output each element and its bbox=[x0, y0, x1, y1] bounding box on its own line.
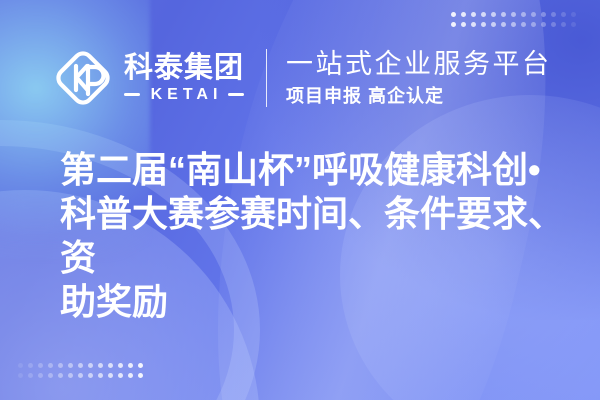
brand-name-cn: 科泰集团 bbox=[124, 53, 244, 83]
banner-title-line-1: 第二届“南山杯”呼吸健康科创• bbox=[60, 148, 570, 192]
dot bbox=[28, 363, 33, 368]
banner-title: 第二届“南山杯”呼吸健康科创• 科普大赛参赛时间、条件要求、资 助奖励 bbox=[60, 148, 570, 324]
dot-grid-icon-bottom-left bbox=[18, 363, 143, 378]
dot bbox=[58, 373, 63, 378]
dot bbox=[491, 12, 496, 17]
dot bbox=[48, 363, 53, 368]
banner-header: 科泰集团 KETAI 一站式企业服务平台 项目申报 高企认定 bbox=[52, 40, 552, 116]
dot bbox=[561, 22, 566, 27]
dot bbox=[68, 363, 73, 368]
wordmark-rule-right bbox=[228, 93, 244, 96]
wordmark-rule-left bbox=[124, 93, 140, 96]
dot bbox=[18, 363, 23, 368]
dot bbox=[38, 363, 43, 368]
dot bbox=[561, 12, 566, 17]
dot bbox=[571, 12, 576, 17]
dot bbox=[461, 12, 466, 17]
dot bbox=[128, 373, 133, 378]
brand-wordmark: 科泰集团 KETAI bbox=[124, 53, 244, 102]
banner-title-line-3: 助奖励 bbox=[60, 280, 570, 324]
dot bbox=[48, 373, 53, 378]
dot bbox=[98, 363, 103, 368]
dot bbox=[511, 12, 516, 17]
ketai-diamond-kp-logo-icon bbox=[52, 47, 114, 109]
dot bbox=[481, 22, 486, 27]
dot bbox=[88, 363, 93, 368]
dot bbox=[571, 22, 576, 27]
dot bbox=[78, 373, 83, 378]
dot bbox=[118, 373, 123, 378]
dot bbox=[38, 373, 43, 378]
dot bbox=[28, 373, 33, 378]
dot bbox=[521, 22, 526, 27]
dot bbox=[451, 22, 456, 27]
dot bbox=[128, 363, 133, 368]
dot bbox=[501, 22, 506, 27]
header-divider bbox=[266, 49, 267, 107]
brand-name-en: KETAI bbox=[146, 87, 223, 103]
promo-banner: 科泰集团 KETAI 一站式企业服务平台 项目申报 高企认定 第二届“南山杯”呼… bbox=[0, 0, 600, 400]
dot bbox=[461, 22, 466, 27]
dot bbox=[138, 373, 143, 378]
dot bbox=[531, 22, 536, 27]
dot bbox=[68, 373, 73, 378]
dot bbox=[118, 363, 123, 368]
dot-row bbox=[451, 22, 576, 27]
tagline-sub: 项目申报 高企认定 bbox=[286, 86, 552, 108]
dot bbox=[108, 363, 113, 368]
banner-title-line-2: 科普大赛参赛时间、条件要求、资 bbox=[60, 192, 570, 280]
dot-row bbox=[451, 12, 576, 17]
dot bbox=[88, 373, 93, 378]
dot bbox=[18, 373, 23, 378]
dot bbox=[108, 373, 113, 378]
dot bbox=[58, 363, 63, 368]
tagline-block: 一站式企业服务平台 项目申报 高企认定 bbox=[286, 49, 552, 108]
dot bbox=[531, 12, 536, 17]
dot bbox=[491, 22, 496, 27]
dot-row bbox=[18, 373, 143, 378]
dot-grid-icon-top-right bbox=[451, 12, 576, 27]
dot bbox=[541, 12, 546, 17]
dot bbox=[451, 12, 456, 17]
dot bbox=[551, 12, 556, 17]
dot bbox=[501, 12, 506, 17]
brand-name-en-row: KETAI bbox=[124, 87, 244, 103]
dot bbox=[541, 22, 546, 27]
dot bbox=[138, 363, 143, 368]
dot bbox=[98, 373, 103, 378]
dot bbox=[551, 22, 556, 27]
brand-logo[interactable]: 科泰集团 KETAI bbox=[52, 47, 244, 109]
dot bbox=[481, 12, 486, 17]
dot bbox=[521, 12, 526, 17]
tagline-main: 一站式企业服务平台 bbox=[286, 49, 552, 80]
dot bbox=[471, 22, 476, 27]
dot bbox=[471, 12, 476, 17]
dot bbox=[78, 363, 83, 368]
dot bbox=[511, 22, 516, 27]
dot-row bbox=[18, 363, 143, 368]
